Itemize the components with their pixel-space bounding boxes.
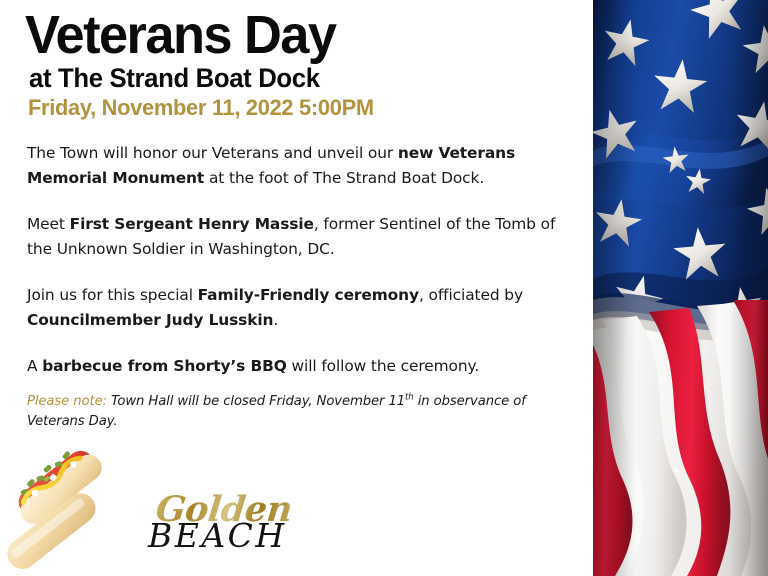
plain-text: Join us for this special [27, 286, 198, 304]
american-flag-illustration [593, 0, 768, 576]
plain-text: will follow the ceremony. [287, 357, 479, 375]
plain-text: Meet [27, 215, 70, 233]
note-text-before: Town Hall will be closed Friday, Novembe… [107, 394, 405, 409]
closure-note: Please note: Town Hall will be closed Fr… [27, 392, 579, 432]
hot-dogs-photo [0, 448, 126, 576]
emphasis-text: barbecue from Shorty’s BBQ [42, 357, 287, 375]
note-block: Please note: Town Hall will be closed Fr… [27, 392, 579, 432]
page-subtitle: at The Strand Boat Dock [29, 64, 568, 92]
hot-dogs-illustration [0, 448, 126, 576]
event-date-time: Friday, November 11, 2022 5:00PM [28, 95, 568, 120]
headline-block: Veterans Day at The Strand Boat Dock Fri… [25, 8, 585, 120]
american-flag-photo [593, 0, 768, 576]
paragraph-monument: The Town will honor our Veterans and unv… [27, 141, 579, 190]
plain-text: at the foot of The Strand Boat Dock. [204, 169, 484, 187]
paragraph-guest-speaker: Meet First Sergeant Henry Massie, former… [27, 212, 579, 261]
page-title: Veterans Day [25, 8, 568, 62]
paragraph-ceremony: Join us for this special Family-Friendly… [27, 283, 579, 332]
paragraph-barbecue: A barbecue from Shorty’s BBQ will follow… [27, 354, 579, 379]
golden-beach-logo: Golden BEACH [148, 492, 298, 564]
note-ordinal-suffix: th [405, 393, 414, 403]
emphasis-text: Councilmember Judy Lusskin [27, 311, 273, 329]
note-lead-label: Please note: [27, 394, 107, 409]
plain-text: . [273, 311, 278, 329]
content-column: Veterans Day at The Strand Boat Dock Fri… [0, 0, 593, 576]
plain-text: A [27, 357, 42, 375]
emphasis-text: Family-Friendly ceremony [198, 286, 419, 304]
plain-text: , officiated by [419, 286, 523, 304]
body-paragraphs: The Town will honor our Veterans and unv… [27, 141, 579, 379]
logo-serif-word: BEACH [148, 519, 287, 553]
emphasis-text: First Sergeant Henry Massie [70, 215, 314, 233]
plain-text: The Town will honor our Veterans and unv… [27, 144, 398, 162]
flyer-canvas: Veterans Day at The Strand Boat Dock Fri… [0, 0, 768, 576]
